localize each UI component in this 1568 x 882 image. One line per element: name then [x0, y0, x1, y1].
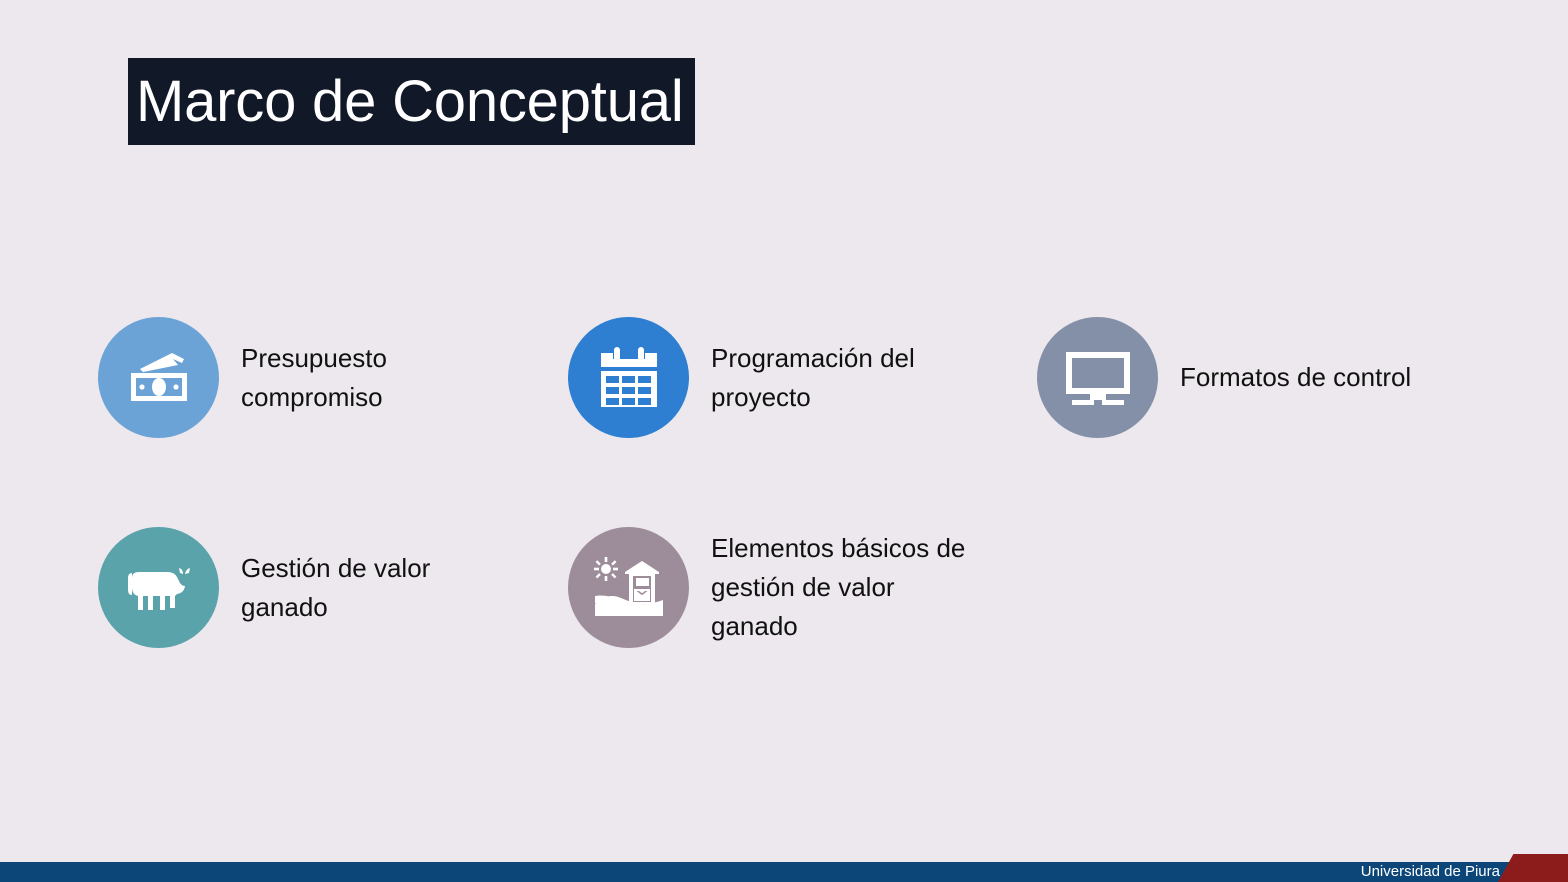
monitor-icon [1064, 350, 1132, 406]
list-item[interactable]: Programación del proyecto [568, 317, 915, 438]
money-icon [126, 349, 192, 407]
list-item-label: Formatos de control [1180, 358, 1411, 397]
icon-circle-monitor [1037, 317, 1158, 438]
icon-circle-calendar [568, 317, 689, 438]
farm-barn-icon [593, 556, 665, 620]
list-item[interactable]: Gestión de valor ganado [98, 527, 430, 648]
footer-institution-label: Universidad de Piura [1361, 862, 1500, 881]
icon-circle-farm [568, 527, 689, 648]
list-item[interactable]: Elementos básicos de gestión de valor ga… [568, 527, 965, 648]
list-item-label: Presupuesto compromiso [241, 339, 387, 417]
list-item-label: Elementos básicos de gestión de valor ga… [711, 529, 965, 646]
icon-circle-cow [98, 527, 219, 648]
concept-item-grid: Presupuesto compromiso [0, 0, 1568, 882]
list-item[interactable]: Formatos de control [1037, 317, 1411, 438]
icon-circle-money [98, 317, 219, 438]
list-item[interactable]: Presupuesto compromiso [98, 317, 387, 438]
footer-bar [0, 862, 1568, 882]
list-item-label: Gestión de valor ganado [241, 549, 430, 627]
list-item-label: Programación del proyecto [711, 339, 915, 417]
cow-icon [126, 562, 192, 614]
slide-canvas: Marco de Conceptual P [0, 0, 1568, 882]
calendar-icon [599, 347, 659, 409]
